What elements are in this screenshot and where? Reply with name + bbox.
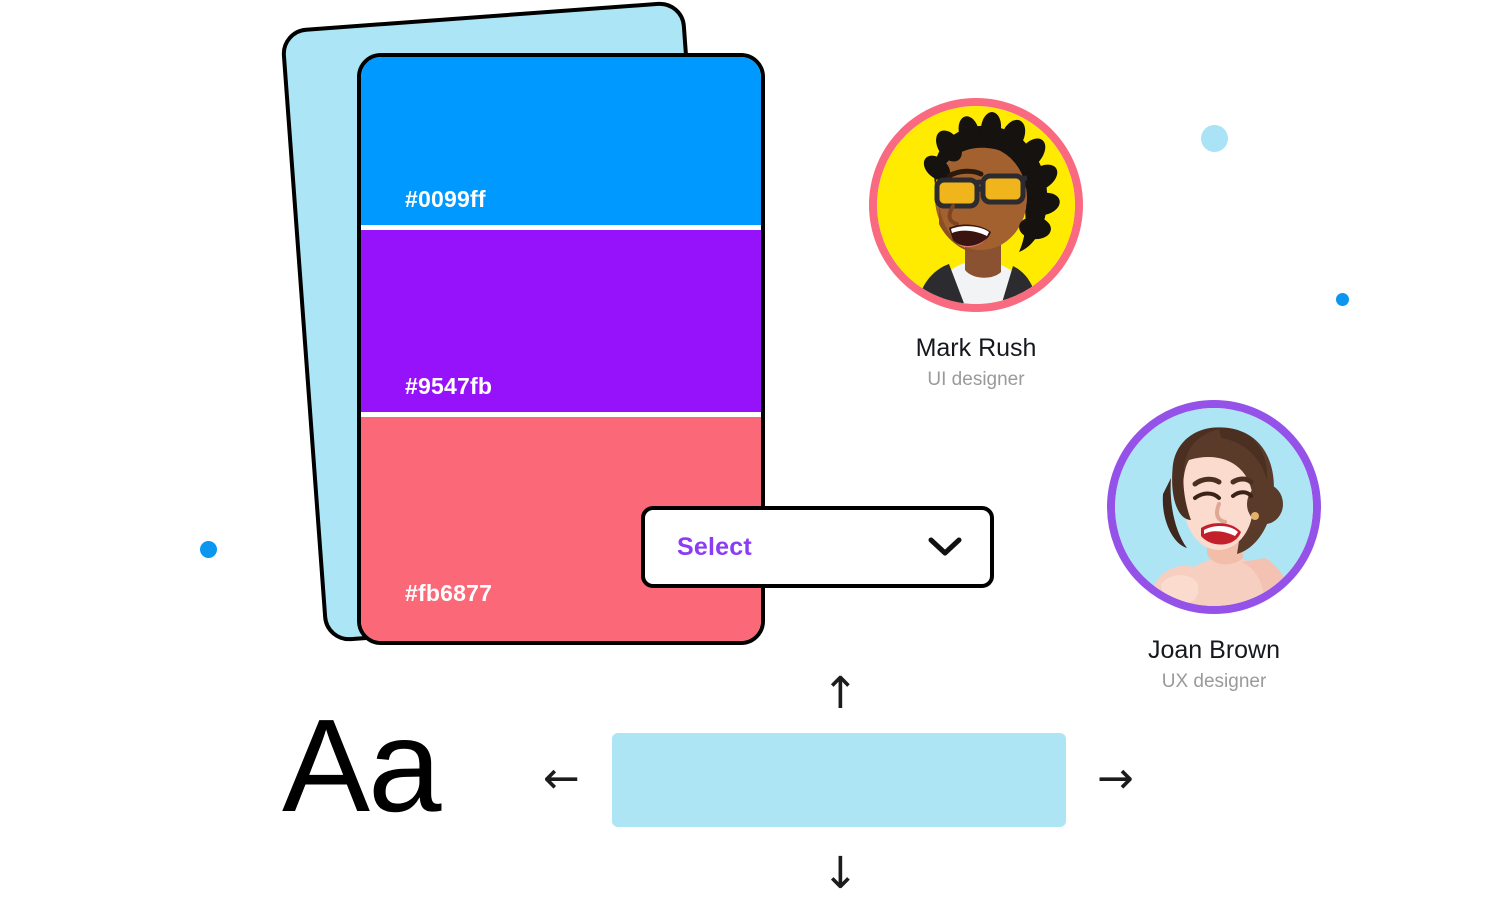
avatar[interactable]: [869, 98, 1083, 312]
person-role: UI designer: [852, 369, 1100, 391]
resize-rectangle[interactable]: [612, 733, 1066, 827]
swatch-hex-label: #fb6877: [405, 582, 492, 605]
person-role: UX designer: [1090, 671, 1338, 693]
color-swatch-blue[interactable]: #0099ff: [361, 57, 761, 225]
arrow-up-icon[interactable]: ↑: [822, 672, 859, 716]
typography-sample: Aa: [282, 700, 439, 832]
arrow-left-icon[interactable]: ←: [543, 757, 580, 801]
arrow-down-icon[interactable]: ↓: [822, 852, 859, 896]
select-dropdown[interactable]: Select: [641, 506, 994, 588]
blue-small-dot: [1336, 293, 1349, 306]
color-swatch-purple[interactable]: #9547fb: [361, 230, 761, 412]
person-card-joan-brown[interactable]: Joan Brown UX designer: [1090, 400, 1338, 693]
person-name: Joan Brown: [1090, 636, 1338, 665]
person-name: Mark Rush: [852, 334, 1100, 363]
person-card-mark-rush[interactable]: Mark Rush UI designer: [852, 98, 1100, 391]
swatch-hex-label: #0099ff: [405, 188, 486, 211]
chevron-down-icon[interactable]: [928, 537, 962, 557]
light-blue-dot: [1201, 125, 1228, 152]
avatar[interactable]: [1107, 400, 1321, 614]
select-dropdown-label: Select: [677, 533, 752, 562]
blue-left-dot: [200, 541, 217, 558]
swatch-hex-label: #9547fb: [405, 375, 492, 398]
avatar-photo: [877, 106, 1075, 304]
arrow-right-icon[interactable]: →: [1097, 757, 1134, 801]
avatar-photo: [1115, 408, 1313, 606]
design-canvas: #0099ff #9547fb #fb6877 Select: [0, 0, 1500, 900]
